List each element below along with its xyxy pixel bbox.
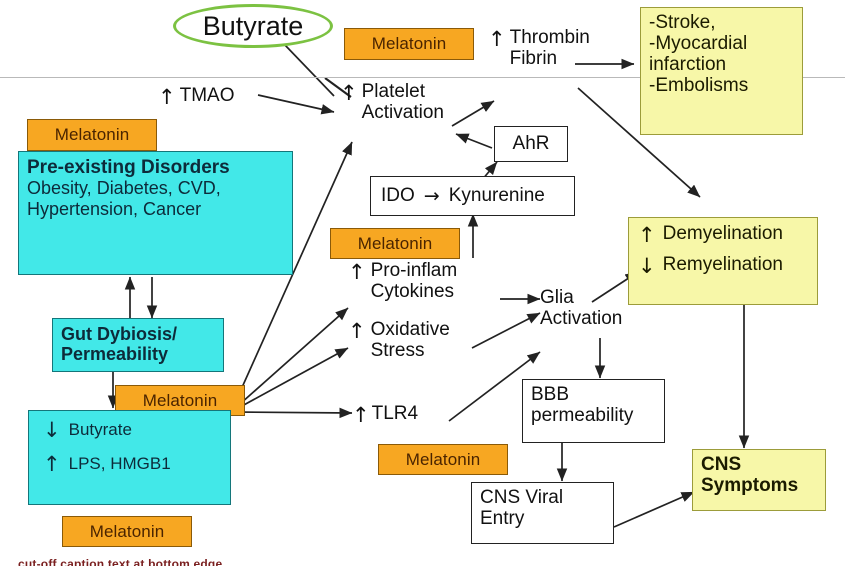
down-arrow-icon: ↓ [638, 256, 656, 277]
vascular-item-2: infarction [649, 55, 794, 76]
edge-cnsviral-cnssymptoms [614, 492, 694, 527]
oxidative-stress-node: ↑ Oxidative Stress [348, 320, 488, 372]
melatonin-label: Melatonin [372, 34, 447, 54]
edge-gut-tlr4 [231, 412, 352, 413]
butyrate-label: Butyrate [203, 11, 304, 42]
ahr-box[interactable]: AhR [494, 126, 568, 162]
pro-inflam-cytokines-node: ↑ Pro-inflam Cytokines [348, 261, 498, 313]
up-arrow-icon: ↑ [348, 321, 366, 342]
bbb-line1: BBB [531, 385, 656, 406]
thrombin-label: Thrombin [510, 28, 590, 49]
cns-viral-line1: CNS Viral [480, 488, 605, 509]
up-arrow-icon: ↑ [43, 454, 61, 475]
up-arrow-icon: ↑ [488, 29, 506, 50]
melatonin-label: Melatonin [55, 125, 130, 145]
up-arrow-icon: ↑ [348, 262, 366, 283]
gut-products-box[interactable]: ↓ Butyrate ↑ LPS, HMGB1 [28, 410, 231, 505]
cytokines-line2: Cytokines [371, 282, 458, 303]
cns-symptoms-box[interactable]: CNS Symptoms [692, 449, 826, 511]
tlr4-label: TLR4 [372, 404, 418, 425]
up-arrow-icon: ↑ [340, 83, 358, 104]
gut-dysbiosis-box[interactable]: Gut Dybiosis/ Permeability [52, 318, 224, 372]
edge-gut-cytokines [231, 308, 348, 412]
kynurenine-label: Kynurenine [449, 186, 545, 207]
ahr-label: AhR [513, 134, 550, 155]
fibrin-label: Fibrin [510, 49, 590, 70]
melatonin-badge-disorders[interactable]: Melatonin [27, 119, 157, 151]
gut-dysbiosis-line1: Gut Dybiosis/ [61, 324, 215, 344]
vascular-item-3: -Embolisms [649, 76, 794, 97]
cns-symptoms-line2: Symptoms [701, 476, 817, 497]
cns-symptoms-line1: CNS [701, 455, 817, 476]
thrombin-fibrin-node: ↑ Thrombin Fibrin [488, 28, 628, 80]
cns-viral-line2: Entry [480, 509, 605, 530]
platelet-activation-line2: Activation [362, 103, 444, 124]
gut-butyrate-label: Butyrate [69, 420, 132, 439]
cns-viral-entry-box[interactable]: CNS Viral Entry [471, 482, 614, 544]
cytokines-line1: Pro-inflam [371, 261, 458, 282]
gut-lps-hmgb1-label: LPS, HMGB1 [69, 454, 171, 473]
platelet-activation-line1: Platelet [362, 82, 444, 103]
tmao-node: ↑ TMAO [158, 83, 268, 109]
vascular-item-1: -Myocardial [649, 34, 794, 55]
vascular-item-0: -Stroke, [649, 13, 794, 34]
melatonin-label: Melatonin [143, 391, 218, 411]
demyelination-label: Demyelination [663, 224, 783, 245]
myelination-box[interactable]: ↑ Demyelination ↓ Remyelination [628, 217, 818, 305]
up-arrow-icon: ↑ [158, 87, 176, 108]
bbb-line2: permeability [531, 406, 656, 427]
melatonin-badge-gut-bottom[interactable]: Melatonin [62, 516, 192, 547]
melatonin-label: Melatonin [358, 234, 433, 254]
bottom-caption-cutoff: cut-off caption text at bottom edge [18, 557, 828, 566]
vascular-events-box[interactable]: -Stroke, -Myocardial infarction -Embolis… [640, 7, 803, 135]
edge-butyrate-inhibit [284, 44, 334, 96]
platelet-activation-node: ↑ Platelet Activation [340, 82, 470, 134]
tmao-label: TMAO [180, 86, 235, 107]
melatonin-badge-tlr4[interactable]: Melatonin [378, 444, 508, 475]
melatonin-badge-cytokines[interactable]: Melatonin [330, 228, 460, 259]
down-arrow-icon: ↓ [43, 420, 61, 441]
pre-existing-disorders-box[interactable]: Pre-existing Disorders Obesity, Diabetes… [18, 151, 293, 275]
disorders-line2: Hypertension, Cancer [27, 199, 284, 220]
tlr4-node: ↑ TLR4 [352, 400, 462, 428]
bottom-caption-text: cut-off caption text at bottom edge [18, 557, 222, 566]
up-arrow-icon: ↑ [638, 225, 656, 246]
right-arrow-icon: → [424, 187, 440, 206]
oxidative-line2: Stress [371, 341, 450, 362]
disorders-line1: Obesity, Diabetes, CVD, [27, 178, 284, 199]
edge-gut-oxidative [231, 348, 348, 412]
remyelination-label: Remyelination [663, 255, 783, 276]
glia-line2: Activation [540, 309, 660, 330]
edge-ahr-platelet [456, 134, 492, 148]
edge-tmao-platelet [258, 95, 334, 112]
oxidative-line1: Oxidative [371, 320, 450, 341]
gut-dysbiosis-line2: Permeability [61, 344, 215, 364]
ido-kynurenine-box[interactable]: IDO → Kynurenine [370, 176, 575, 216]
diagram-canvas: Butyrate Melatonin ↑ TMAO ↑ Platelet Act… [0, 0, 845, 566]
melatonin-label: Melatonin [90, 522, 165, 542]
bbb-permeability-box[interactable]: BBB permeability [522, 379, 665, 443]
ido-label: IDO [381, 186, 415, 207]
disorders-title: Pre-existing Disorders [27, 157, 284, 178]
melatonin-badge-platelet[interactable]: Melatonin [344, 28, 474, 60]
melatonin-label: Melatonin [406, 450, 481, 470]
up-arrow-icon: ↑ [352, 405, 370, 426]
butyrate-node[interactable]: Butyrate [173, 4, 333, 48]
